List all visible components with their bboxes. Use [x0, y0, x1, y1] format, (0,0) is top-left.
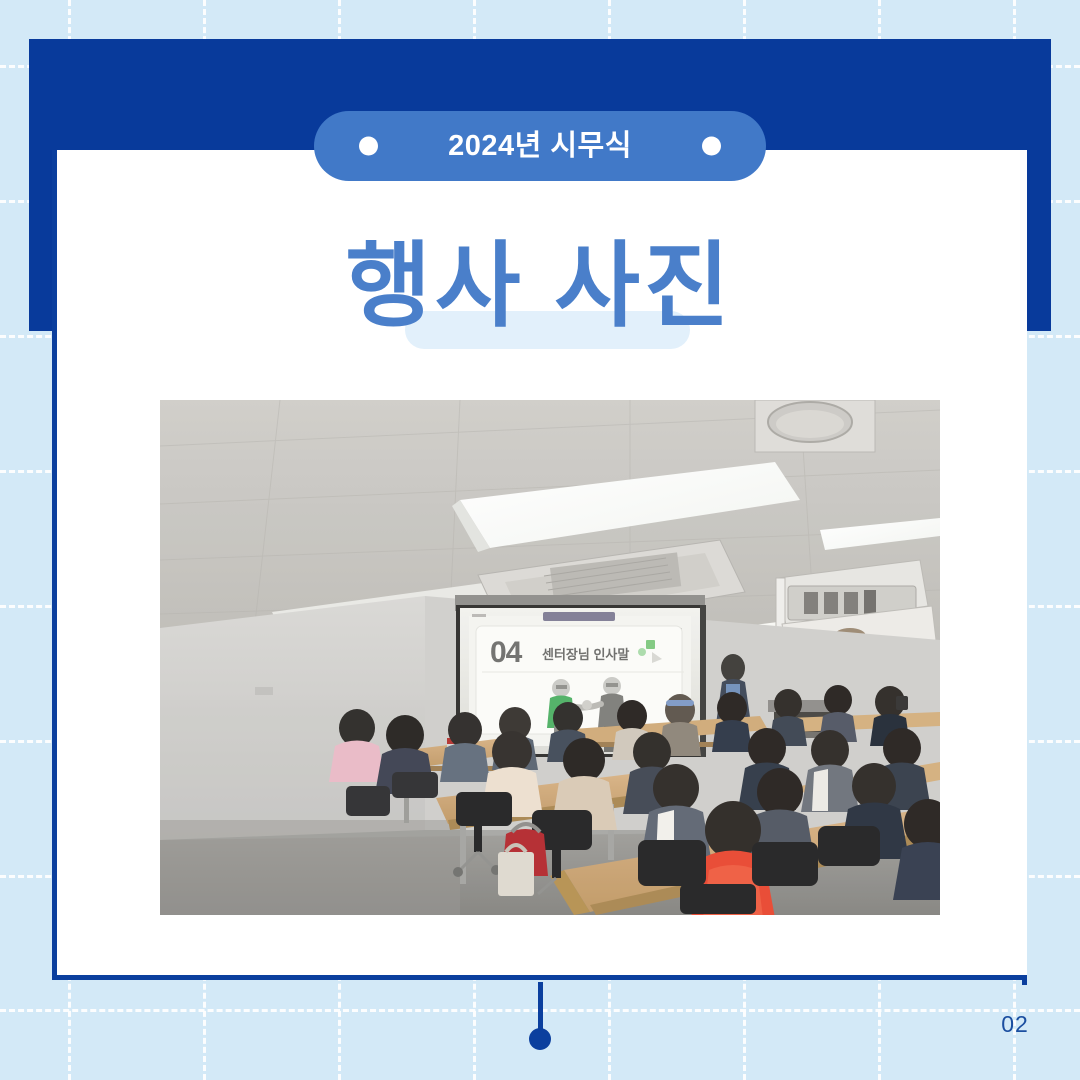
slide-canvas: 2024년 시무식 행사 사진 [0, 0, 1080, 1080]
page-number: 02 [985, 1013, 1045, 1036]
pin-stem [538, 982, 543, 1030]
bullet-dot-icon [702, 137, 721, 156]
page-title: 행사 사진 [52, 236, 1027, 336]
page-title-group: 행사 사진 [52, 236, 1027, 356]
event-photo: 04 센터장님 인사말 [160, 400, 940, 915]
bullet-dot-icon [359, 137, 378, 156]
pin-head-icon [529, 1028, 551, 1050]
event-badge: 2024년 시무식 [314, 111, 766, 181]
event-badge-label: 2024년 시무식 [448, 132, 632, 161]
